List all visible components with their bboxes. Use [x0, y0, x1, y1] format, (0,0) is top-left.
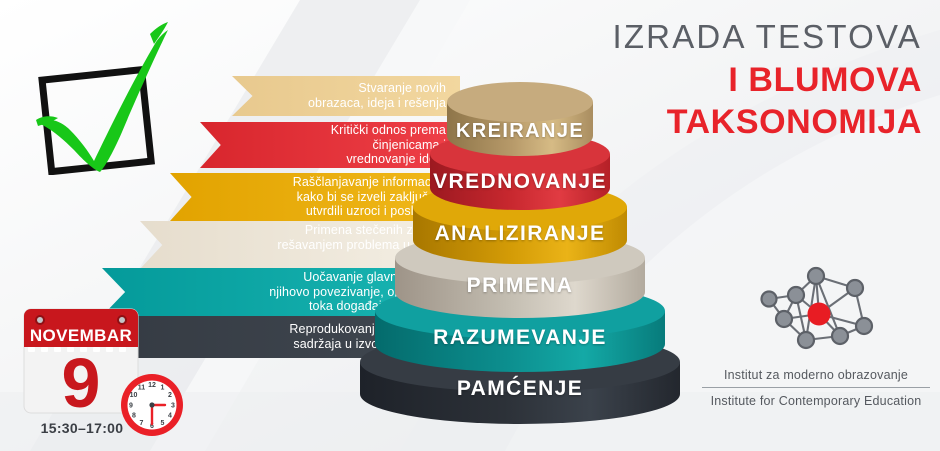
page-title-accent-2: TAKSONOMIJA	[667, 102, 922, 143]
institute-name-en: Institute for Contemporary Education	[700, 394, 932, 408]
logo-center-node	[808, 303, 831, 326]
institute-name-sr: Institut za moderno obrazovanje	[700, 368, 932, 382]
logo-node	[788, 287, 804, 303]
logo-node	[832, 328, 848, 344]
divider	[702, 387, 930, 388]
page-title-primary: IZRADA TESTOVA	[612, 18, 922, 56]
clock-icon: 1212 345 678 91011	[118, 371, 186, 439]
svg-text:7: 7	[140, 420, 144, 427]
logo-node	[798, 332, 814, 348]
logo-node	[847, 280, 863, 296]
svg-text:5: 5	[161, 420, 165, 427]
svg-text:10: 10	[130, 392, 138, 399]
svg-text:3: 3	[171, 403, 175, 410]
svg-text:1: 1	[161, 385, 165, 392]
institute-branding: Institut za moderno obrazovanje Institut…	[700, 368, 932, 408]
calendar-month: NOVEMBAR	[30, 326, 132, 345]
infographic-canvas: Stvaranje novih obrazaca, ideja i rešenj…	[0, 0, 940, 451]
logo-node	[856, 318, 872, 334]
calendar-day: 9	[62, 344, 101, 415]
bloom-taxonomy-pyramid: KREIRANJE VREDNOVANJE ANALIZIRANJE PRIME…	[355, 30, 685, 430]
pyramid-tier-kreiranje	[447, 82, 593, 156]
svg-text:2: 2	[168, 392, 172, 399]
svg-text:4: 4	[168, 413, 172, 420]
logo-node	[808, 268, 824, 284]
svg-text:12: 12	[148, 382, 156, 389]
svg-text:9: 9	[129, 403, 133, 410]
page-title-accent-1: I BLUMOVA	[728, 60, 922, 101]
svg-text:8: 8	[132, 413, 136, 420]
svg-text:11: 11	[138, 385, 146, 392]
network-logo-icon	[744, 262, 894, 362]
logo-node	[762, 292, 777, 307]
checkmark-graphic	[8, 20, 178, 175]
logo-node	[776, 311, 792, 327]
